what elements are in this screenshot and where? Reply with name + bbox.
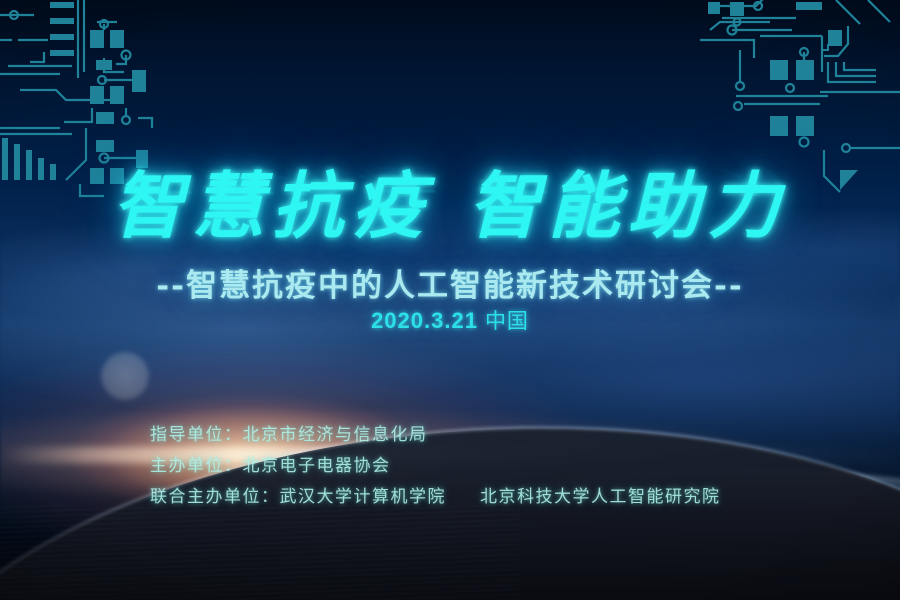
organizer-host-label: 主办单位：北京电子电器协会 (150, 456, 391, 476)
poster-content: 智慧抗疫智能助力 智慧抗疫智能助力 --智慧抗疫中的人工智能新技术研讨会-- 2… (0, 0, 900, 600)
organizer-line-guidance: 指导单位：北京市经济与信息化局 (150, 420, 721, 451)
main-title-part1: 智慧抗疫 (112, 163, 432, 248)
organizer-cohost-label-extra: 北京科技大学人工智能研究院 (480, 487, 721, 507)
main-title-part2: 智能助力 (468, 163, 788, 248)
event-country: 中国 (485, 309, 529, 333)
organizer-cohost-label: 联合主办单位：武汉大学计算机学院 (150, 487, 446, 507)
organizer-line-host: 主办单位：北京电子电器协会 (150, 451, 721, 482)
event-date: 2020.3.21 (371, 308, 478, 333)
date-location-line: 2020.3.21中国 (0, 305, 900, 335)
conference-poster: 智慧抗疫智能助力 智慧抗疫智能助力 --智慧抗疫中的人工智能新技术研讨会-- 2… (0, 0, 900, 600)
organizer-guidance-label: 指导单位：北京市经济与信息化局 (150, 425, 428, 445)
organizer-list: 指导单位：北京市经济与信息化局 主办单位：北京电子电器协会 联合主办单位：武汉大… (150, 420, 721, 513)
subtitle: --智慧抗疫中的人工智能新技术研讨会-- (0, 268, 900, 305)
organizer-line-cohost: 联合主办单位：武汉大学计算机学院北京科技大学人工智能研究院 (150, 482, 721, 513)
main-title: 智慧抗疫智能助力 (0, 170, 900, 242)
